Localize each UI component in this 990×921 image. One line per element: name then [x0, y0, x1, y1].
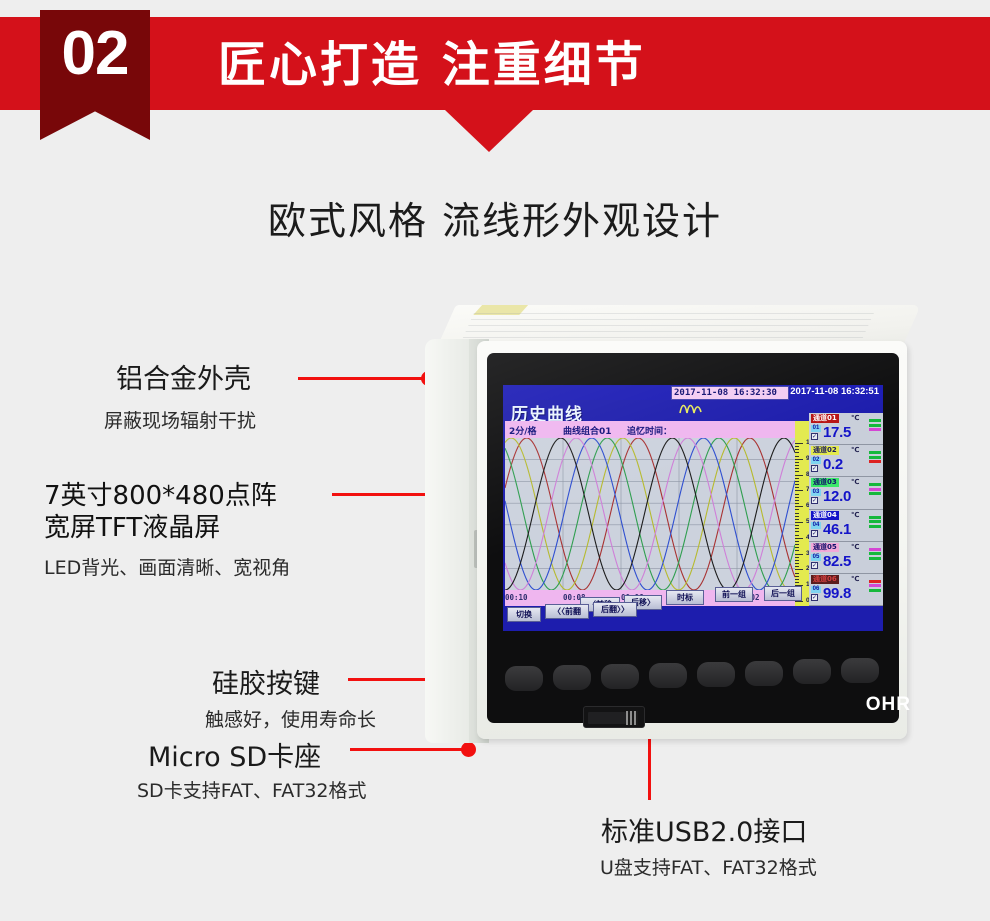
y-scale-tick — [795, 452, 799, 453]
channel-name-tag: 通道01 — [811, 414, 839, 423]
y-scale-tick — [795, 522, 803, 523]
y-scale-tick — [795, 462, 799, 463]
channel-number: 05 — [811, 554, 821, 561]
channel-value: 46.1 — [823, 521, 851, 538]
channel-enable-checkbox[interactable]: ✓ — [811, 562, 818, 569]
section-number-ribbon: 02 — [40, 10, 150, 140]
softkey-时标[interactable]: 时标 — [666, 590, 704, 605]
channel-value: 82.5 — [823, 553, 851, 570]
channel-unit: ℃ — [851, 511, 859, 519]
page-subtitle: 欧式风格 流线形外观设计 — [0, 190, 990, 245]
channel-number: 03 — [811, 489, 821, 496]
alarm-bar — [869, 584, 881, 587]
alarm-bar — [869, 516, 881, 519]
channel-unit: ℃ — [851, 478, 859, 486]
channel-value: 12.0 — [823, 488, 851, 505]
callout-3-title: 硅胶按键 — [212, 662, 320, 701]
channel-enable-checkbox[interactable]: ✓ — [811, 530, 818, 537]
trend-curves — [505, 438, 795, 590]
channel-name-tag: 通道03 — [811, 478, 839, 487]
callout-2-title: 7英寸800*480点阵 宽屏TFT液晶屏 — [44, 480, 277, 544]
y-scale-tick — [795, 509, 799, 510]
channel-unit: ℃ — [851, 575, 859, 583]
y-scale-tick — [795, 503, 799, 504]
alarm-bar — [869, 428, 881, 431]
y-scale-tick — [795, 478, 799, 479]
channel-unit: ℃ — [851, 446, 859, 454]
y-scale-tick — [795, 554, 803, 555]
silicone-button-6[interactable] — [745, 661, 783, 686]
y-scale-tick — [795, 513, 799, 514]
channel-number: 04 — [811, 522, 821, 529]
y-scale-tick — [795, 443, 803, 444]
lcd-curve-group: 曲线组合01 — [563, 424, 612, 437]
y-scale-tick — [795, 573, 799, 574]
alarm-bar — [869, 520, 881, 523]
lcd-recall-label: 追忆时间： — [627, 424, 672, 437]
silicone-button-7[interactable] — [793, 659, 831, 684]
channel-number: 01 — [811, 425, 821, 432]
y-scale-tick — [795, 569, 803, 570]
y-scale-tick — [795, 557, 799, 558]
y-scale-tick — [795, 471, 799, 472]
lcd-softkey-bar: 时标前一组后一组〈前移后移〉切换〈〈前翻后翻〉〉 — [503, 589, 883, 631]
callout-4-title: Micro SD卡座 — [148, 735, 321, 774]
y-scale-tick — [795, 550, 799, 551]
channel-enable-checkbox[interactable]: ✓ — [811, 497, 818, 504]
lcd-time-scale: 2分/格 — [509, 424, 537, 437]
y-scale-tick — [795, 449, 799, 450]
callout-1-title: 铝合金外壳 — [116, 357, 251, 396]
trend-series-通道05 — [505, 438, 795, 590]
y-scale-tick — [795, 465, 799, 466]
callout-1-sub: 屏蔽现场辐射干扰 — [104, 406, 256, 433]
y-scale-tick — [795, 516, 799, 517]
channel-value: 0.2 — [823, 456, 843, 473]
alarm-bar — [869, 548, 881, 551]
channel-alarm-bars — [869, 548, 881, 562]
silicone-button-8[interactable] — [841, 658, 879, 683]
channel-alarm-bars — [869, 483, 881, 497]
alarm-bar — [869, 424, 881, 427]
lcd-trend-plot[interactable] — [505, 438, 795, 590]
y-scale-tick — [795, 544, 799, 545]
y-scale-tick — [795, 535, 799, 536]
y-scale-tick — [795, 519, 799, 520]
banner-title: 匠心打造 注重细节 — [218, 25, 646, 95]
y-scale-tick — [795, 566, 799, 567]
channel-enable-checkbox[interactable]: ✓ — [811, 465, 818, 472]
y-scale-tick — [795, 541, 799, 542]
banner-arrow-notch — [445, 110, 533, 152]
softkey-后一组[interactable]: 后一组 — [764, 586, 802, 601]
channel-alarm-bars — [869, 516, 881, 530]
channel-alarm-bars — [869, 419, 881, 433]
brand-logo: OHR — [866, 694, 911, 716]
channel-row[interactable]: 通道01℃01✓17.5 — [809, 413, 883, 445]
y-scale-tick — [795, 579, 799, 580]
y-scale-tick — [795, 456, 799, 457]
alarm-bar — [869, 557, 881, 560]
softkey-〈〈前翻[interactable]: 〈〈前翻 — [545, 604, 589, 619]
channel-row[interactable]: 通道04℃04✓46.1 — [809, 510, 883, 542]
y-scale-tick — [795, 531, 799, 532]
y-scale-tick — [795, 563, 799, 564]
y-scale-tick — [795, 500, 799, 501]
lcd-info-strip: 2分/格 曲线组合01 追忆时间： — [505, 421, 795, 438]
y-scale-tick — [795, 475, 803, 476]
channel-unit: ℃ — [851, 414, 859, 422]
silicone-button-5[interactable] — [697, 662, 735, 687]
lcd-recall-time-field[interactable]: 2017-11-08 16:32:30 — [671, 386, 789, 400]
channel-value: 17.5 — [823, 424, 851, 441]
section-number: 02 — [40, 18, 150, 89]
alarm-bar — [869, 492, 881, 495]
y-scale-tick — [795, 582, 799, 583]
callout-4-sub: SD卡支持FAT、FAT32格式 — [137, 776, 367, 803]
y-scale-tick — [795, 481, 799, 482]
channel-number: 02 — [811, 457, 821, 464]
channel-enable-checkbox[interactable]: ✓ — [811, 433, 818, 440]
y-scale-tick — [795, 560, 799, 561]
callout-1-line — [298, 377, 430, 380]
silicone-button-row — [505, 658, 895, 692]
callout-3-sub: 触感好，使用寿命长 — [205, 705, 376, 732]
channel-unit: ℃ — [851, 543, 859, 551]
waveform-logo-icon — [679, 400, 709, 413]
y-scale-tick — [795, 547, 799, 548]
callout-5-sub: U盘支持FAT、FAT32格式 — [600, 853, 817, 880]
alarm-bar — [869, 525, 881, 528]
lcd-channel-panel: 通道01℃01✓17.5通道02℃02✓0.2通道03℃03✓12.0通道04℃… — [809, 413, 883, 606]
callout-2-sub: LED背光、画面清晰、宽视角 — [44, 553, 290, 580]
y-scale-tick — [795, 576, 799, 577]
y-scale-tick — [795, 468, 799, 469]
alarm-bar — [869, 451, 881, 454]
y-scale-tick — [795, 494, 799, 495]
channel-alarm-bars — [869, 451, 881, 465]
alarm-bar — [869, 460, 881, 463]
y-scale-tick — [795, 538, 803, 539]
y-scale-tick — [795, 487, 799, 488]
channel-row[interactable]: 通道03℃03✓12.0 — [809, 477, 883, 509]
silicone-button-4[interactable] — [649, 663, 687, 688]
channel-name-tag: 通道05 — [811, 543, 839, 552]
y-scale-tick — [795, 497, 799, 498]
callout-2-title-line2: 宽屏TFT液晶屏 — [44, 513, 220, 543]
silicone-button-3[interactable] — [601, 664, 639, 689]
alarm-bar — [869, 456, 881, 459]
callout-2-title-line1: 7英寸800*480点阵 — [44, 481, 277, 511]
alarm-bar — [869, 552, 881, 555]
lcd-screen[interactable]: 2017-11-08 16:32:51 历史曲线 2分/格 曲线组合01 追忆时… — [503, 385, 883, 631]
alarm-bar — [869, 580, 881, 583]
channel-name-tag: 通道06 — [811, 575, 839, 584]
lcd-datetime: 2017-11-08 16:32:51 — [790, 386, 879, 397]
softkey-后翻〉〉[interactable]: 后翻〉〉 — [593, 602, 637, 617]
channel-name-tag: 通道04 — [811, 511, 839, 520]
softkey-前一组[interactable]: 前一组 — [715, 587, 753, 602]
channel-name-tag: 通道02 — [811, 446, 839, 455]
y-scale-tick — [795, 484, 799, 485]
y-scale-tick — [795, 459, 803, 460]
y-scale-tick — [795, 525, 799, 526]
silicone-button-1[interactable] — [505, 666, 543, 691]
y-scale-tick — [795, 446, 799, 447]
alarm-bar — [869, 419, 881, 422]
channel-row[interactable]: 通道02℃02✓0.2 — [809, 445, 883, 477]
alarm-bar — [869, 488, 881, 491]
silicone-button-2[interactable] — [553, 665, 591, 690]
softkey-切换[interactable]: 切换 — [507, 607, 541, 622]
y-scale-tick — [795, 490, 803, 491]
alarm-bar — [869, 483, 881, 486]
callout-5-title: 标准USB2.0接口 — [601, 810, 807, 849]
usb-port[interactable] — [583, 706, 645, 728]
channel-row[interactable]: 通道05℃05✓82.5 — [809, 542, 883, 574]
paperless-recorder-device: 2017-11-08 16:32:51 历史曲线 2分/格 曲线组合01 追忆时… — [425, 305, 925, 750]
y-scale-tick — [795, 506, 803, 507]
product-detail-page: 02 匠心打造 注重细节 欧式风格 流线形外观设计 铝合金外壳 屏蔽现场辐射干扰… — [0, 0, 990, 921]
y-scale-tick — [795, 528, 799, 529]
